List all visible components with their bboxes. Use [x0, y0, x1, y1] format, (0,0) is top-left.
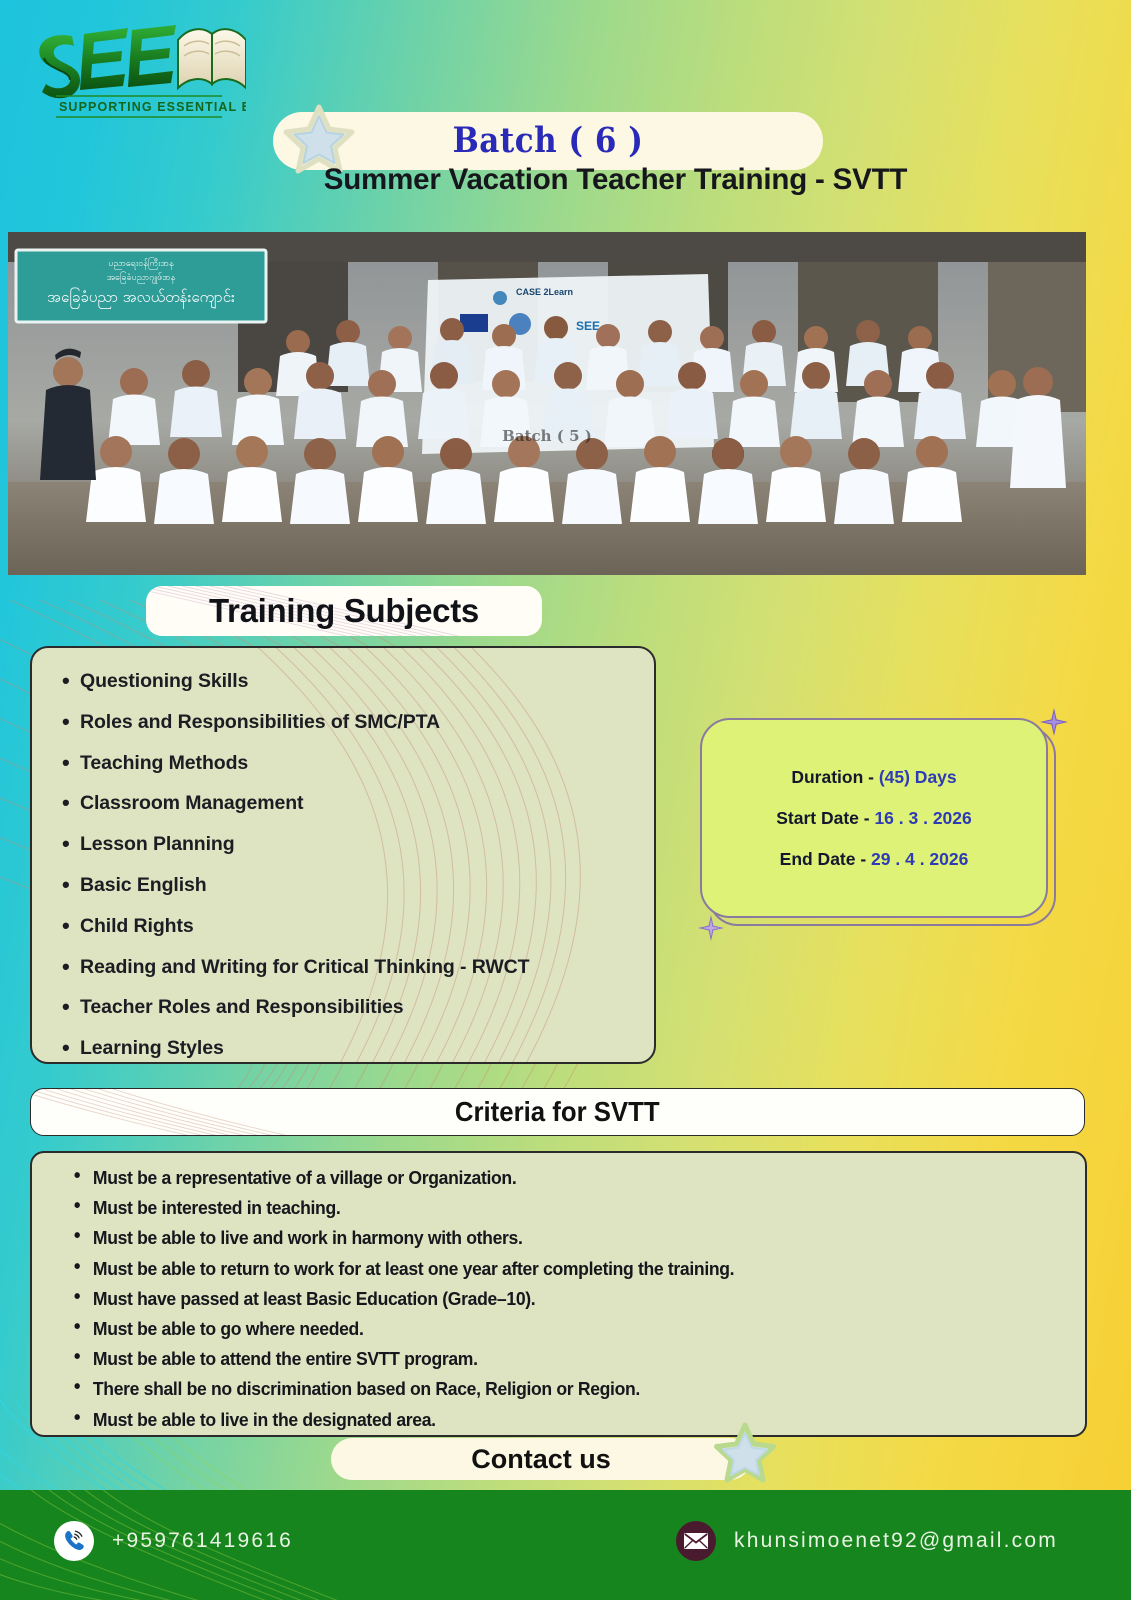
- list-item: Reading and Writing for Critical Thinkin…: [50, 956, 654, 979]
- end-date-value: 29 . 4 . 2026: [871, 849, 968, 869]
- list-item: Must be a representative of a village or…: [72, 1167, 1034, 1189]
- list-item: Basic English: [50, 874, 654, 897]
- list-item: Must be able to live and work in harmony…: [72, 1227, 1034, 1249]
- page-title: Summer Vacation Teacher Training - SVTT: [0, 163, 1131, 197]
- organization-logo: SUPPORTING ESSENTIAL EDUCATION: [26, 18, 246, 128]
- school-sign-line2: အခြေခံပညာဂျုဖ်ဒာန: [107, 271, 176, 284]
- list-item: Must have passed at least Basic Educatio…: [72, 1288, 1034, 1310]
- list-item: Teaching Methods: [50, 752, 654, 775]
- duration-label: Duration -: [791, 767, 879, 787]
- photo-watermark: Batch ( 5 ): [8, 427, 1086, 445]
- criteria-box: Must be a representative of a village or…: [30, 1151, 1087, 1437]
- batch-label: Batch ( 6 ): [453, 121, 644, 161]
- criteria-heading: Criteria for SVTT: [455, 1096, 660, 1128]
- phone-icon: [54, 1521, 94, 1561]
- list-item: Lesson Planning: [50, 833, 654, 856]
- duration-info-box: Duration - (45) Days Start Date - 16 . 3…: [700, 718, 1058, 926]
- training-subjects-list: Questioning Skills Roles and Responsibil…: [32, 648, 654, 1060]
- school-sign-line1: ပညာရေးဝန်ကြီးဒာန: [108, 257, 174, 270]
- duration-row: Duration - (45) Days: [791, 767, 956, 788]
- group-photo: ပညာရေးဝန်ကြီးဒာန အခြေခံပညာဂျုဖ်ဒာန အခြေခ…: [8, 232, 1086, 575]
- footer-contact-bar: +959761419616 khunsimoenet92@gmail.com: [0, 1490, 1131, 1600]
- school-sign-main: အခြေခံပညာ အလယ်တန်းကျောင်း: [47, 287, 235, 309]
- duration-box-body: Duration - (45) Days Start Date - 16 . 3…: [700, 718, 1048, 918]
- list-item: Must be able to return to work for at le…: [72, 1258, 1034, 1280]
- list-item: Child Rights: [50, 915, 654, 938]
- training-subjects-banner: Training Subjects: [146, 586, 542, 636]
- phone-number: +959761419616: [112, 1529, 293, 1553]
- svg-text:SEE: SEE: [576, 319, 600, 333]
- start-date-row: Start Date - 16 . 3 . 2026: [776, 808, 972, 829]
- logo-tagline: SUPPORTING ESSENTIAL EDUCATION: [59, 100, 246, 114]
- poster-root: SUPPORTING ESSENTIAL EDUCATION Batch ( 6…: [0, 0, 1131, 1600]
- list-item: Classroom Management: [50, 792, 654, 815]
- start-date-label: Start Date -: [776, 808, 874, 828]
- training-subjects-heading: Training Subjects: [209, 592, 479, 630]
- end-date-row: End Date - 29 . 4 . 2026: [780, 849, 969, 870]
- list-item: Must be interested in teaching.: [72, 1197, 1034, 1219]
- list-item: Must be able to live in the designated a…: [72, 1409, 1034, 1431]
- contact-heading: Contact us: [471, 1444, 611, 1475]
- list-item: Teacher Roles and Responsibilities: [50, 996, 654, 1019]
- email-contact-row[interactable]: khunsimoenet92@gmail.com: [676, 1521, 1058, 1561]
- criteria-list: Must be a representative of a village or…: [32, 1153, 1085, 1437]
- batch-banner: Batch ( 6 ): [273, 112, 823, 170]
- list-item: Must be able to attend the entire SVTT p…: [72, 1348, 1034, 1370]
- training-subjects-box: Questioning Skills Roles and Responsibil…: [30, 646, 656, 1064]
- envelope-icon: [676, 1521, 716, 1561]
- duration-value: (45) Days: [879, 767, 957, 787]
- email-address: khunsimoenet92@gmail.com: [734, 1529, 1058, 1553]
- end-date-label: End Date -: [780, 849, 871, 869]
- list-item: Roles and Responsibilities of SMC/PTA: [50, 711, 654, 734]
- list-item: Learning Styles: [50, 1037, 654, 1060]
- phone-contact-row[interactable]: +959761419616: [54, 1521, 293, 1561]
- list-item: Questioning Skills: [50, 670, 654, 693]
- list-item: Must be able to go where needed.: [72, 1318, 1034, 1340]
- contact-banner: Contact us: [331, 1438, 751, 1480]
- banner-logo-text: CASE 2Learn: [516, 287, 573, 297]
- start-date-value: 16 . 3 . 2026: [874, 808, 971, 828]
- banner-line-texture-criteria: [30, 1089, 325, 1136]
- criteria-banner: Criteria for SVTT: [30, 1088, 1085, 1136]
- list-item: There shall be no discrimination based o…: [72, 1378, 1034, 1400]
